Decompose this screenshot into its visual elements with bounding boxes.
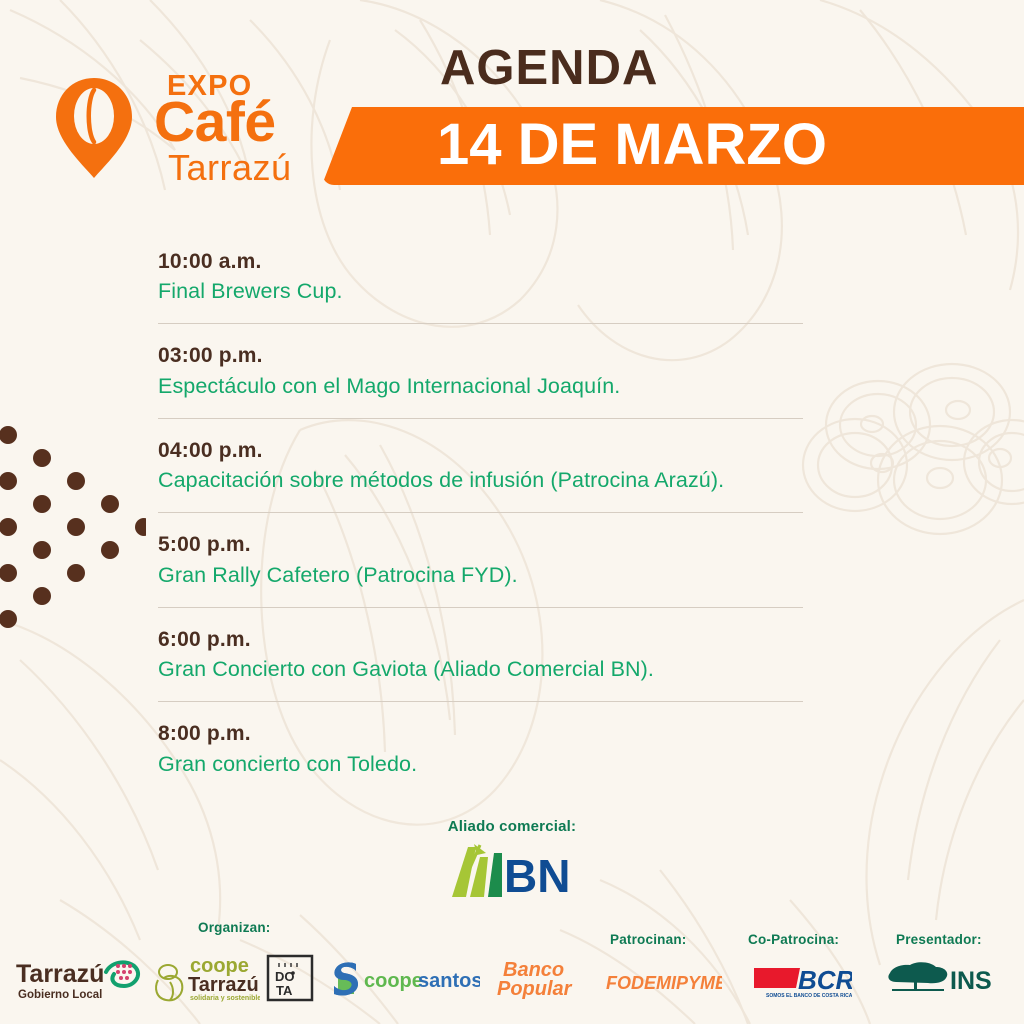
agenda-item-time: 04:00 p.m.: [158, 437, 803, 465]
svg-text:INS: INS: [950, 967, 992, 995]
agenda-item: 04:00 p.m. Capacitación sobre métodos de…: [158, 437, 803, 495]
svg-text:TA: TA: [276, 983, 293, 998]
expo-cafe-tarrazu-logo: EXPO Café Tarrazú: [48, 62, 303, 197]
bn-logo-text: BN: [504, 850, 570, 899]
logo-text-tarrazu: Tarrazú: [168, 150, 292, 186]
svg-text:Popular: Popular: [497, 978, 573, 1000]
logo-dota: DO TA: [266, 954, 314, 1002]
bcr-logo-subtext: SOMOS EL BANCO DE COSTA RICA: [766, 993, 852, 999]
date-banner: 14 DE MARZO: [322, 107, 1024, 185]
agenda-item-time: 03:00 p.m.: [158, 342, 803, 370]
footer-label-presentador: Presentador:: [896, 932, 982, 947]
logo-text-cafe: Café: [154, 94, 276, 151]
svg-text:DO: DO: [275, 969, 295, 984]
logo-bcr: BCR SOMOS EL BANCO DE COSTA RICA: [752, 958, 852, 1002]
agenda-separator: [158, 323, 803, 324]
logo-fodemipyme: FODEMIPYME: [604, 968, 722, 996]
agenda-item: 6:00 p.m. Gran Concierto con Gaviota (Al…: [158, 626, 803, 684]
agenda-separator: [158, 701, 803, 702]
agenda-item-time: 10:00 a.m.: [158, 248, 803, 276]
coffee-bean-pin-icon: [54, 76, 134, 180]
footer-sponsors: Organizan: Patrocinan: Co-Patrocina: Pre…: [0, 918, 1024, 1024]
logo-ins: INS: [884, 960, 1008, 1000]
agenda-list: 10:00 a.m. Final Brewers Cup. 03:00 p.m.…: [158, 248, 803, 779]
svg-text:Tarrazú: Tarrazú: [188, 974, 259, 996]
agenda-item: 8:00 p.m. Gran concierto con Toledo.: [158, 720, 803, 778]
page-title: AGENDA: [440, 44, 658, 93]
logo-tarrazu-gobierno-local: Tarrazú Gobierno Local: [14, 956, 144, 1004]
aliado-comercial-label: Aliado comercial:: [0, 818, 1024, 835]
agenda-separator: [158, 607, 803, 608]
footer-label-organizan: Organizan:: [198, 920, 271, 935]
agenda-item-time: 6:00 p.m.: [158, 626, 803, 654]
decorative-dots-pattern: [0, 396, 146, 656]
svg-text:FODEMIPYME: FODEMIPYME: [606, 973, 722, 993]
svg-text:Tarrazú: Tarrazú: [16, 960, 104, 988]
agenda-separator: [158, 512, 803, 513]
svg-text:BCR: BCR: [798, 965, 852, 995]
agenda-item-description: Espectáculo con el Mago Internacional Jo…: [158, 371, 803, 401]
agenda-item-description: Gran Rally Cafetero (Patrocina FYD).: [158, 560, 803, 590]
svg-text:Gobierno Local: Gobierno Local: [18, 989, 102, 1001]
agenda-item-description: Gran concierto con Toledo.: [158, 749, 803, 779]
agenda-separator: [158, 418, 803, 419]
footer-label-patrocinan: Patrocinan:: [610, 932, 686, 947]
agenda-item-time: 5:00 p.m.: [158, 531, 803, 559]
agenda-item: 03:00 p.m. Espectáculo con el Mago Inter…: [158, 342, 803, 400]
agenda-item-description: Capacitación sobre métodos de infusión (…: [158, 465, 803, 495]
svg-text:solidaria y sostenible: solidaria y sostenible: [190, 995, 260, 1002]
footer-label-copatrocina: Co-Patrocina:: [748, 932, 839, 947]
agenda-item: 10:00 a.m. Final Brewers Cup.: [158, 248, 803, 306]
bn-banco-nacional-logo: BN: [446, 841, 578, 899]
page-header: EXPO Café Tarrazú AGENDA 14 DE MARZO: [0, 0, 1024, 200]
svg-text:santos: santos: [418, 970, 480, 992]
date-banner-text: 14 DE MARZO: [437, 116, 827, 174]
logo-coopesantos: coope santos: [330, 960, 480, 998]
agenda-item: 5:00 p.m. Gran Rally Cafetero (Patrocina…: [158, 531, 803, 589]
agenda-item-description: Final Brewers Cup.: [158, 276, 803, 306]
logo-coope-tarrazu: coope Tarrazú solidaria y sostenible: [150, 952, 260, 1004]
svg-text:coope: coope: [364, 970, 423, 992]
aliado-comercial-section: Aliado comercial: BN: [0, 818, 1024, 904]
logo-banco-popular: Banco Popular: [497, 956, 597, 1000]
agenda-item-description: Gran Concierto con Gaviota (Aliado Comer…: [158, 654, 803, 684]
agenda-item-time: 8:00 p.m.: [158, 720, 803, 748]
